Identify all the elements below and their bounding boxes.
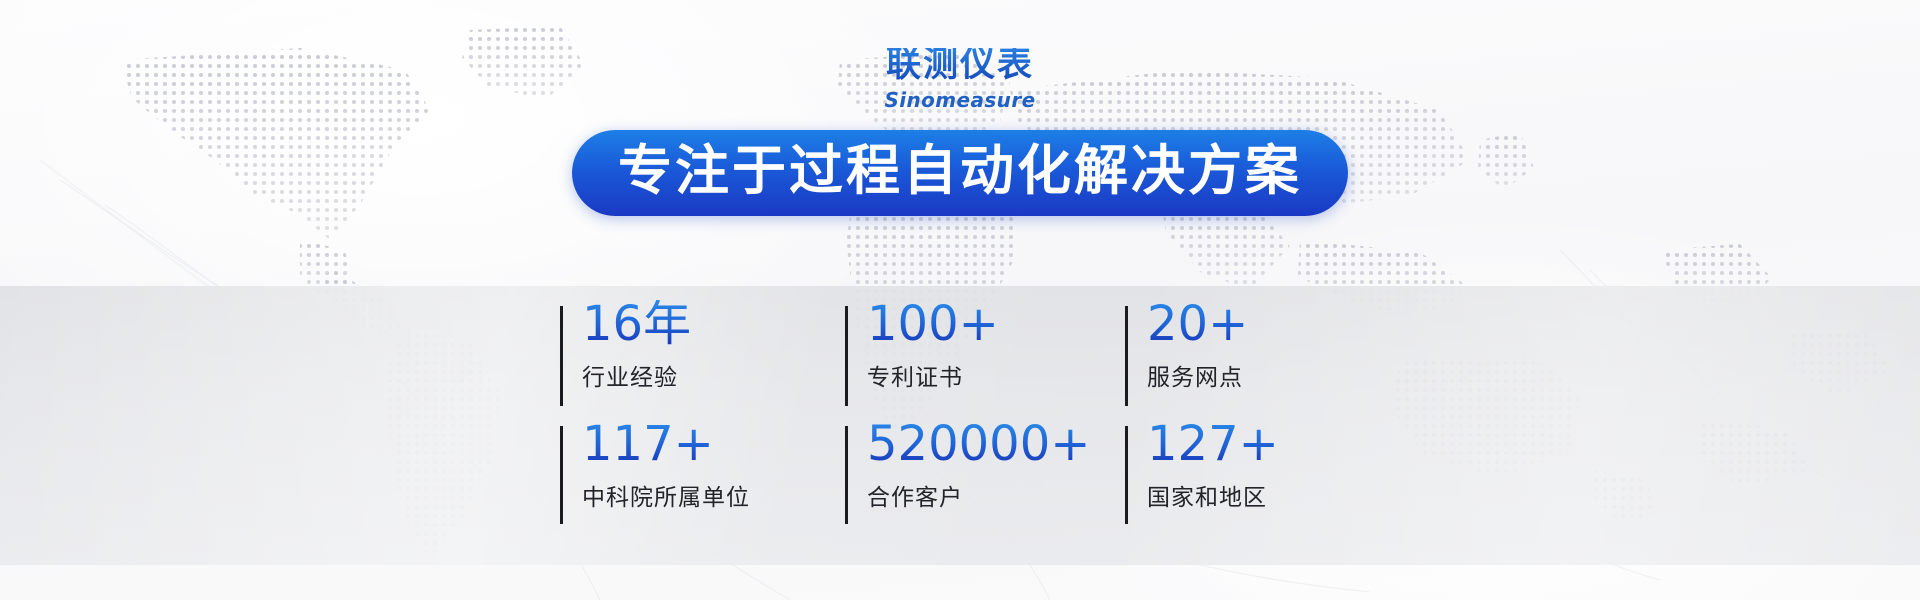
- stat-label: 服务网点: [1147, 358, 1360, 392]
- stat-item: 127+ 国家和地区: [1125, 420, 1360, 538]
- brand-logo: 联测仪表 Sinomeasure: [0, 48, 1920, 110]
- stat-value: 100+: [867, 300, 1125, 348]
- brand-name-en: Sinomeasure: [0, 90, 1920, 110]
- stat-value: 520000+: [867, 420, 1125, 468]
- stat-item: 20+ 服务网点: [1125, 300, 1360, 420]
- stat-label: 国家和地区: [1147, 478, 1360, 512]
- stat-label: 中科院所属单位: [582, 478, 845, 512]
- stat-value: 20+: [1147, 300, 1360, 348]
- stat-item: 520000+ 合作客户: [845, 420, 1125, 538]
- stat-label: 行业经验: [582, 358, 845, 392]
- headline-container: 专注于过程自动化解决方案: [0, 130, 1920, 216]
- stat-label: 合作客户: [867, 478, 1125, 512]
- stat-value: 117+: [582, 420, 845, 468]
- stat-label: 专利证书: [867, 358, 1125, 392]
- stat-item: 100+ 专利证书: [845, 300, 1125, 420]
- stat-value: 16年: [582, 300, 845, 348]
- promo-banner: 联测仪表 Sinomeasure 专注于过程自动化解决方案 16年 行业经验 1…: [0, 0, 1920, 600]
- headline-pill: 专注于过程自动化解决方案: [572, 130, 1348, 216]
- headline-text: 专注于过程自动化解决方案: [618, 141, 1302, 201]
- stat-item: 16年 行业经验: [560, 300, 845, 420]
- brand-name-cn: 联测仪表: [886, 48, 1034, 83]
- stat-value: 127+: [1147, 420, 1360, 468]
- stat-item: 117+ 中科院所属单位: [560, 420, 845, 538]
- stats-grid: 16年 行业经验 100+ 专利证书 20+ 服务网点 117+ 中科院所属单位…: [560, 300, 1360, 538]
